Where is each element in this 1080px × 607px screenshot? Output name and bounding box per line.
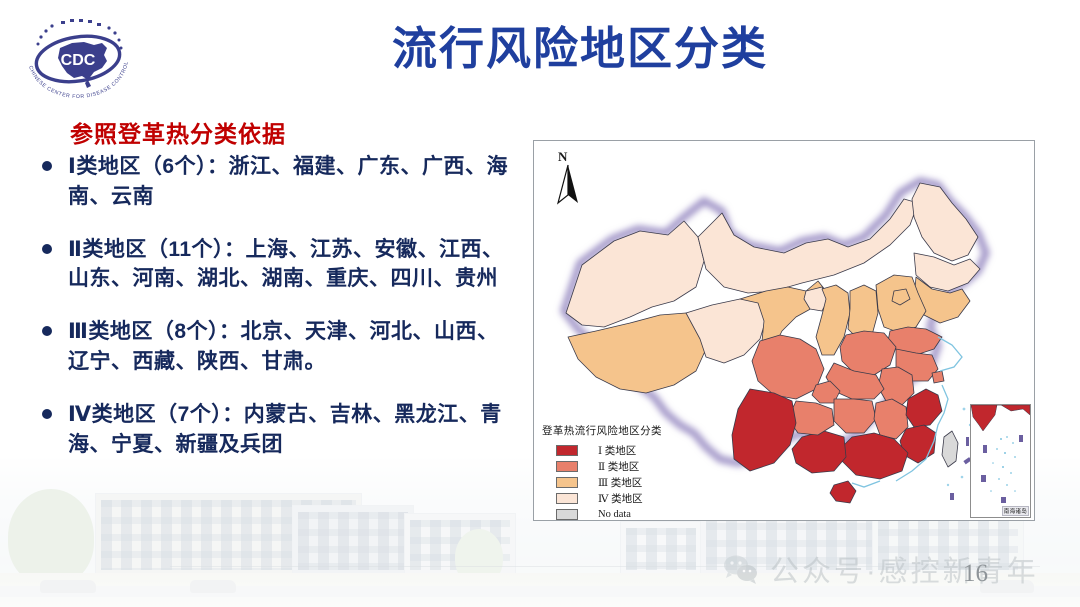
china-cdc-logo: CDC CHINESE CENTER FOR DISEASE CONTROL A…	[14, 12, 142, 108]
legend-swatch	[556, 445, 578, 456]
inset-label: 南海诸岛	[1002, 506, 1029, 516]
legend-swatch	[556, 477, 578, 488]
list-item: Ⅰ类地区（6个）：浙江、福建、广东、广西、海南、云南	[30, 152, 520, 212]
page-number: 16	[963, 560, 988, 588]
list-item: Ⅱ类地区（11个）：上海、江苏、安徽、江西、山东、河南、湖北、湖南、重庆、四川、…	[30, 235, 520, 295]
china-risk-map: N 登革热流行风险地区分类 Ⅰ 类地区 Ⅱ 类地区 Ⅲ 类地区	[533, 140, 1035, 521]
legend-swatch	[556, 493, 578, 504]
legend-item: No data	[542, 507, 722, 521]
bullet-dot-icon	[42, 326, 52, 336]
list-item: Ⅳ类地区（7个）：内蒙古、吉林、黑龙江、青海、宁夏、新疆及兵团	[30, 400, 520, 460]
legend-label: Ⅰ 类地区	[598, 443, 636, 458]
wechat-icon	[722, 554, 760, 584]
list-item-label: Ⅱ类地区（11个）：上海、江苏、安徽、江西、山东、河南、湖北、湖南、重庆、四川、…	[68, 235, 520, 295]
list-item-label: Ⅰ类地区（6个）：浙江、福建、广东、广西、海南、云南	[68, 152, 520, 212]
bullet-dot-icon	[42, 161, 52, 171]
list-item-label: Ⅳ类地区（7个）：内蒙古、吉林、黑龙江、青海、宁夏、新疆及兵团	[68, 400, 520, 460]
south-china-sea-inset: 南海诸岛	[970, 404, 1031, 518]
list-item-label: Ⅲ类地区（8个）：北京、天津、河北、山西、辽宁、西藏、陕西、甘肃。	[68, 317, 520, 377]
page-title: 流行风险地区分类	[330, 24, 830, 74]
legend-swatch	[556, 461, 578, 472]
legend-label: No data	[598, 509, 631, 520]
bullet-dot-icon	[42, 409, 52, 419]
legend-item: Ⅲ 类地区	[542, 475, 722, 489]
legend-item: Ⅳ 类地区	[542, 491, 722, 505]
section-subheading: 参照登革热分类依据	[70, 115, 286, 149]
bullet-dot-icon	[42, 244, 52, 254]
svg-text:CDC: CDC	[61, 52, 96, 69]
legend-label: Ⅲ 类地区	[598, 475, 642, 490]
wechat-watermark: 公众号·感控新青年	[722, 548, 1039, 590]
legend-item: Ⅰ 类地区	[542, 443, 722, 457]
legend-swatch	[556, 509, 578, 520]
legend-label: Ⅱ 类地区	[598, 459, 639, 474]
north-arrow-icon: N	[550, 149, 584, 205]
legend-item: Ⅱ 类地区	[542, 459, 722, 473]
map-legend: 登革热流行风险地区分类 Ⅰ 类地区 Ⅱ 类地区 Ⅲ 类地区 Ⅳ 类地区 No d…	[542, 423, 722, 521]
list-item: Ⅲ类地区（8个）：北京、天津、河北、山西、辽宁、西藏、陕西、甘肃。	[30, 317, 520, 377]
risk-class-list: Ⅰ类地区（6个）：浙江、福建、广东、广西、海南、云南 Ⅱ类地区（11个）：上海、…	[30, 152, 520, 483]
legend-label: Ⅳ 类地区	[598, 491, 643, 506]
slide-root: CDC CHINESE CENTER FOR DISEASE CONTROL A…	[0, 0, 1080, 607]
legend-title: 登革热流行风险地区分类	[542, 423, 722, 438]
watermark-text: 公众号·感控新青年	[770, 548, 1039, 590]
